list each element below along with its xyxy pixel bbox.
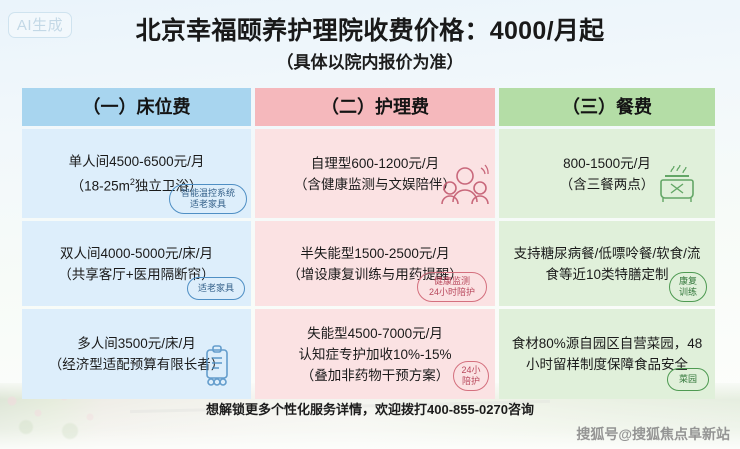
table-cell-meal-3: 食材80%源自园区自营菜园，48小时留样制度保障食品安全 菜园 bbox=[499, 309, 715, 399]
cell-line-primary: 800-1500元/月 bbox=[563, 153, 651, 174]
badge-line-2: 适老家具 bbox=[176, 199, 240, 210]
cell-line-primary: 失能型4500-7000元/月 bbox=[307, 323, 443, 344]
badge-line-2: 24小时陪护 bbox=[424, 287, 480, 298]
feature-badge-vegetable-garden: 菜园 bbox=[667, 368, 709, 391]
cell-line-primary: 单人间4500-6500元/月 bbox=[69, 151, 205, 172]
cell-line-secondary: （含三餐两点） bbox=[560, 174, 655, 195]
table-cell-meal-1: 800-1500元/月 （含三餐两点） bbox=[499, 129, 715, 218]
column-header-bed: （一）床位费 bbox=[22, 88, 251, 126]
badge-line-1: 24小 bbox=[460, 365, 482, 376]
steamer-pot-icon bbox=[657, 162, 697, 210]
badge-line-1: 菜园 bbox=[674, 373, 702, 386]
feature-badge-elder-furniture: 适老家具 bbox=[187, 277, 245, 300]
badge-line-1: 康复 bbox=[676, 276, 700, 287]
cell-line-primary: 双人间4000-5000元/床/月 bbox=[60, 243, 213, 264]
badge-line-2: 训练 bbox=[676, 287, 700, 298]
table-cell-care-1: 自理型600-1200元/月 （含健康监测与文娱陪伴） bbox=[255, 129, 495, 218]
cell-line-prefix: （18-25m bbox=[71, 178, 130, 193]
column-header-meal: （三）餐费 bbox=[499, 88, 715, 126]
title-block: 北京幸福颐养护理院收费价格：4000/月起 （具体以院内报价为准） bbox=[0, 14, 740, 76]
feature-badge-smart-climate: 智能温控系统 适老家具 bbox=[169, 184, 247, 214]
table-cell-bed-3: 多人间3500元/床/月 （经济型适配预算有限长者） bbox=[22, 309, 251, 399]
cell-line-tertiary: （叠加非药物干预方案） bbox=[301, 365, 450, 386]
publisher-watermark: 搜狐号@搜狐焦点阜新站 bbox=[576, 424, 730, 444]
cell-line-primary: 半失能型1500-2500元/月 bbox=[300, 243, 449, 264]
clipboard-icon bbox=[199, 343, 235, 393]
table-column-meal: （三）餐费 800-1500元/月 （含三餐两点） bbox=[499, 88, 715, 399]
poster-canvas: AI生成 北京幸福颐养护理院收费价格：4000/月起 （具体以院内报价为准） （… bbox=[0, 0, 740, 449]
badge-line-1: 智能温控系统 bbox=[176, 188, 240, 199]
table-cell-bed-2: 双人间4000-5000元/床/月 （共享客厅+医用隔断帘） 适老家具 bbox=[22, 221, 251, 306]
table-cell-care-3: 失能型4500-7000元/月 认知症专护加收10%-15% （叠加非药物干预方… bbox=[255, 309, 495, 399]
footer-contact-note: 想解锁更多个性化服务详情，欢迎拨打400-855-0270咨询 bbox=[0, 399, 740, 418]
cell-line-secondary: 认知症专护加收10%-15% bbox=[298, 344, 451, 365]
table-cell-meal-2: 支持糖尿病餐/低嘌呤餐/软食/流食等近10类特膳定制 康复 训练 bbox=[499, 221, 715, 306]
badge-line-2: 陪护 bbox=[460, 376, 482, 387]
column-header-care: （二）护理费 bbox=[255, 88, 495, 126]
page-subtitle: （具体以院内报价为准） bbox=[0, 50, 740, 76]
cell-line-secondary: （含健康监测与文娱陪伴） bbox=[294, 174, 456, 195]
table-column-care: （二）护理费 自理型600-1200元/月 （含健康监测与文娱陪伴） bbox=[255, 88, 495, 399]
cell-line-secondary: （经济型适配预算有限长者） bbox=[49, 354, 225, 375]
badge-line-1: 适老家具 bbox=[194, 282, 238, 295]
table-column-bed: （一）床位费 单人间4500-6500元/月 （18-25m2独立卫浴） 智能温… bbox=[22, 88, 251, 399]
cell-line-primary: 自理型600-1200元/月 bbox=[311, 153, 439, 174]
feature-badge-health-monitor: 健康监测 24小时陪护 bbox=[417, 272, 487, 302]
pricing-table: （一）床位费 单人间4500-6500元/月 （18-25m2独立卫浴） 智能温… bbox=[22, 88, 718, 399]
group-people-icon bbox=[441, 162, 489, 212]
feature-badge-24h-care: 24小 陪护 bbox=[453, 361, 489, 391]
table-cell-bed-1: 单人间4500-6500元/月 （18-25m2独立卫浴） 智能温控系统 适老家… bbox=[22, 129, 251, 218]
badge-line-1: 健康监测 bbox=[424, 276, 480, 287]
table-cell-care-2: 半失能型1500-2500元/月 （增设康复训练与用药提醒） 健康监测 24小时… bbox=[255, 221, 495, 306]
cell-line-primary: 多人间3500元/床/月 bbox=[77, 333, 196, 354]
page-title: 北京幸福颐养护理院收费价格：4000/月起 bbox=[0, 14, 740, 48]
feature-badge-rehab-training: 康复 训练 bbox=[669, 272, 707, 302]
